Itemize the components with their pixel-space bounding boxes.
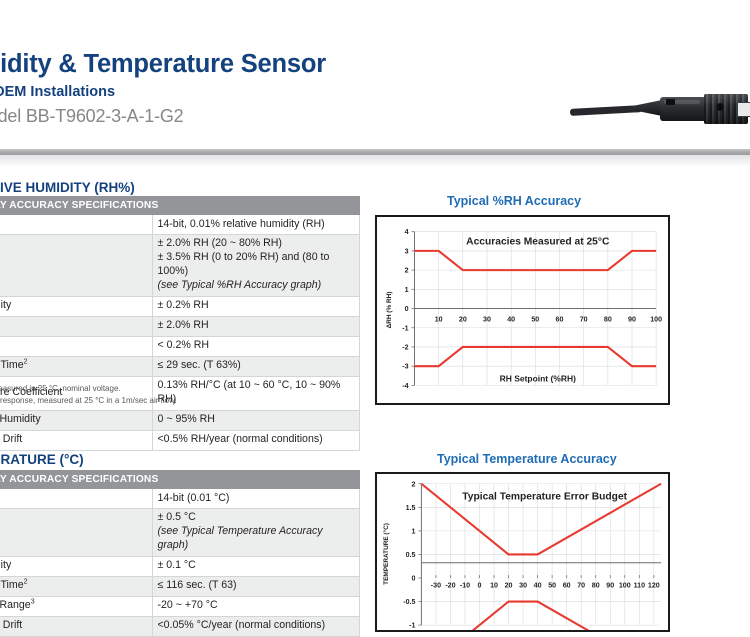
temp-y-tick-label: 2 bbox=[412, 481, 416, 488]
rh-x-tick-label: 80 bbox=[604, 316, 612, 323]
page-title: Humidity & Temperature Sensor bbox=[0, 50, 326, 79]
accuracy-line-2: ± 3.5% RH (0 to 20% RH) and (80 to 100%) bbox=[158, 251, 355, 279]
table-row: Accuracy1 ± 2.0% RH (20 ~ 80% RH) ± 3.5%… bbox=[0, 234, 360, 296]
row-label-operating-humidity: Operating Humidity bbox=[0, 410, 152, 430]
rh-y-tick-label: 4 bbox=[405, 229, 409, 236]
table-row: Accuracy1 ± 0.5 °C (see Typical Temperat… bbox=[0, 508, 360, 556]
row-label-resolution: Resolution bbox=[0, 489, 152, 509]
chart-title-temperature-accuracy: Typical Temperature Accuracy bbox=[437, 452, 617, 466]
probe-end-label bbox=[737, 102, 750, 117]
rh-y-tick-label: 3 bbox=[405, 248, 409, 255]
probe-cone bbox=[632, 100, 662, 116]
row-value-temperature-coefficient: 0.13% RH/°C (at 10 ~ 60 °C, 10 ~ 90% RH) bbox=[152, 376, 360, 410]
row-label-response-time-text: Response Time bbox=[0, 359, 24, 371]
rh-x-tick-label: 50 bbox=[531, 316, 539, 323]
table-row: Resolution 14-bit (0.01 °C) bbox=[0, 489, 360, 509]
page-subtitle: for OEM Installations bbox=[0, 84, 115, 100]
temp-y-tick-label: -0.5 bbox=[403, 599, 415, 606]
table-row: Hysteresis ± 2.0% RH bbox=[0, 316, 360, 336]
probe-cable bbox=[570, 105, 642, 116]
accuracy-graph-reference: (see Typical Temperature Accuracy graph) bbox=[158, 525, 355, 553]
row-value-repeatability: ± 0.1 °C bbox=[152, 556, 360, 576]
temp-x-tick-label: -10 bbox=[460, 583, 470, 590]
temp-x-tick-label: 30 bbox=[519, 583, 527, 590]
row-value-accuracy: ± 0.5 °C (see Typical Temperature Accura… bbox=[152, 508, 360, 556]
page-header: Humidity & Temperature Sensor for OEM In… bbox=[0, 0, 750, 148]
temperature-spec-table: ASSEMBLY ACCURACY SPECIFICATIONS Resolut… bbox=[0, 470, 360, 637]
footnote-marker: 2 bbox=[24, 359, 28, 366]
rh-y-tick-label: -2 bbox=[402, 345, 408, 352]
row-label-response-time: Response Time2 bbox=[0, 576, 152, 596]
rh-y-tick-label: 1 bbox=[405, 287, 409, 294]
accuracy-line-1: ± 0.5 °C bbox=[158, 511, 355, 525]
row-value-operating-range: -20 ~ +70 °C bbox=[152, 596, 360, 616]
row-value-repeatability: ± 0.2% RH bbox=[152, 296, 360, 316]
table-row: Long Term Drift <0.05% °C/year (normal c… bbox=[0, 616, 360, 636]
section-title-relative-humidity: RELATIVE HUMIDITY (RH%) bbox=[0, 180, 135, 195]
temp-y-tick-label: 1 bbox=[412, 528, 416, 535]
rh-inner-title: Accuracies Measured at 25°C bbox=[466, 236, 610, 247]
temp-y-tick-label: 0 bbox=[412, 576, 416, 583]
table-row: Long Term Drift <0.5% RH/year (normal co… bbox=[0, 430, 360, 450]
rh-x-tick-label: 100 bbox=[650, 316, 662, 323]
accuracy-graph-reference: (see Typical %RH Accuracy graph) bbox=[158, 279, 355, 293]
row-value-resolution: 14-bit (0.01 °C) bbox=[152, 489, 360, 509]
temp-x-tick-label: 70 bbox=[577, 583, 585, 590]
row-label-long-term-drift: Long Term Drift bbox=[0, 430, 152, 450]
relative-humidity-spec-table: ASSEMBLY ACCURACY SPECIFICATIONS Resolut… bbox=[0, 196, 360, 451]
row-value-long-term-drift: <0.5% RH/year (normal conditions) bbox=[152, 430, 360, 450]
accuracy-line-1: ± 2.0% RH (20 ~ 80% RH) bbox=[158, 237, 355, 251]
temp-y-tick-label: 0.5 bbox=[406, 552, 416, 559]
temp-x-tick-label: 20 bbox=[505, 583, 513, 590]
table-row: Linearity < 0.2% RH bbox=[0, 336, 360, 356]
table-row: Repeatability ± 0.1 °C bbox=[0, 556, 360, 576]
table-row: Response Time2 ≤ 29 sec. (T 63%) bbox=[0, 356, 360, 376]
section-title-temperature: TEMPERATURE (°C) bbox=[0, 452, 84, 467]
rh-x-tick-label: 30 bbox=[483, 316, 491, 323]
row-value-operating-humidity: 0 ~ 95% RH bbox=[152, 410, 360, 430]
row-label-response-time: Response Time2 bbox=[0, 356, 152, 376]
table-header-label: ASSEMBLY ACCURACY SPECIFICATIONS bbox=[0, 471, 360, 489]
probe-notch bbox=[666, 99, 675, 105]
rh-x-tick-label: 10 bbox=[435, 316, 443, 323]
row-value-resolution: 14-bit, 0.01% relative humidity (RH) bbox=[152, 215, 360, 235]
table-header-row: ASSEMBLY ACCURACY SPECIFICATIONS bbox=[0, 471, 360, 489]
row-label-response-time-text: Response Time bbox=[0, 579, 24, 591]
temp-y-tick-label: -1 bbox=[409, 623, 415, 630]
table-row: Resolution 14-bit, 0.01% relative humidi… bbox=[0, 215, 360, 235]
rh-y-axis-title: ΔRH (% RH) bbox=[386, 292, 393, 329]
table-row: Repeatability ± 0.2% RH bbox=[0, 296, 360, 316]
temperature-accuracy-plot: 21.510.50-0.5-1 -30-20-10010203040506070… bbox=[377, 474, 668, 630]
footnote-marker: 3 bbox=[31, 599, 35, 606]
table-row: Operating Humidity 0 ~ 95% RH bbox=[0, 410, 360, 430]
temp-x-tick-label: 110 bbox=[634, 583, 646, 590]
rh-accuracy-plot: 43210-1-2-3-4 102030405060708090100 Accu… bbox=[377, 217, 668, 403]
rh-y-tick-label: -4 bbox=[402, 383, 408, 390]
row-label-accuracy: Accuracy1 bbox=[0, 234, 152, 296]
temp-x-tick-label: 50 bbox=[548, 583, 556, 590]
header-divider-shadow bbox=[0, 155, 750, 167]
row-label-long-term-drift: Long Term Drift bbox=[0, 616, 152, 636]
rh-x-tick-label: 60 bbox=[556, 316, 564, 323]
temp-x-tick-label: 100 bbox=[619, 583, 631, 590]
row-label-accuracy: Accuracy1 bbox=[0, 508, 152, 556]
temp-x-tick-label: 80 bbox=[592, 583, 600, 590]
table-header-row: ASSEMBLY ACCURACY SPECIFICATIONS bbox=[0, 197, 360, 215]
row-value-response-time: ≤ 29 sec. (T 63%) bbox=[152, 356, 360, 376]
table-row: Operating Range3 -20 ~ +70 °C bbox=[0, 596, 360, 616]
rh-x-tick-labels: 102030405060708090100 bbox=[435, 316, 662, 323]
temp-x-tick-label: 120 bbox=[648, 583, 660, 590]
row-value-accuracy: ± 2.0% RH (20 ~ 80% RH) ± 3.5% RH (0 to … bbox=[152, 234, 360, 296]
model-number: Model BB-T9602-3-A-1-G2 bbox=[0, 106, 184, 127]
chart-temperature-accuracy: 21.510.50-0.5-1 -30-20-10010203040506070… bbox=[375, 472, 670, 632]
relative-humidity-footnotes: 1 Accuracies measured in 25 °C, nominal … bbox=[0, 383, 177, 407]
rh-y-tick-label: 0 bbox=[405, 306, 409, 313]
row-value-response-time: ≤ 116 sec. (T 63) bbox=[152, 576, 360, 596]
row-label-hysteresis: Hysteresis bbox=[0, 316, 152, 336]
row-label-repeatability: Repeatability bbox=[0, 556, 152, 576]
temp-x-tick-label: 40 bbox=[534, 583, 542, 590]
footnote-1: 1 Accuracies measured in 25 °C, nominal … bbox=[0, 383, 177, 395]
temp-x-tick-label: 0 bbox=[478, 583, 482, 590]
row-value-long-term-drift: <0.05% °C/year (normal conditions) bbox=[152, 616, 360, 636]
row-label-operating-range-text: Operating Range bbox=[0, 599, 31, 611]
row-label-operating-range: Operating Range3 bbox=[0, 596, 152, 616]
row-value-hysteresis: ± 2.0% RH bbox=[152, 316, 360, 336]
temp-x-tick-label: 10 bbox=[490, 583, 498, 590]
temp-lower-budget-line bbox=[421, 602, 661, 630]
temp-x-tick-label: 60 bbox=[563, 583, 571, 590]
rh-x-tick-label: 20 bbox=[459, 316, 467, 323]
table-header-label: ASSEMBLY ACCURACY SPECIFICATIONS bbox=[0, 197, 360, 215]
rh-x-tick-label: 40 bbox=[507, 316, 515, 323]
temp-inner-title: Typical Temperature Error Budget bbox=[462, 491, 627, 502]
probe-vent-hole bbox=[717, 103, 723, 111]
rh-x-tick-label: 90 bbox=[628, 316, 636, 323]
temp-y-axis-title: TEMPERATURE (°C) bbox=[382, 523, 390, 585]
temp-x-tick-label: 90 bbox=[606, 583, 614, 590]
chart-rh-accuracy: 43210-1-2-3-4 102030405060708090100 Accu… bbox=[375, 215, 670, 405]
rh-y-tick-label: -1 bbox=[402, 325, 408, 332]
footnote-marker: 2 bbox=[24, 579, 28, 586]
rh-y-tick-labels: 43210-1-2-3-4 bbox=[402, 229, 408, 390]
row-label-linearity: Linearity bbox=[0, 336, 152, 356]
rh-y-tick-label: 2 bbox=[405, 268, 409, 275]
chart-title-rh-accuracy: Typical %RH Accuracy bbox=[447, 194, 581, 208]
row-label-resolution: Resolution bbox=[0, 215, 152, 235]
table-row: Response Time2 ≤ 116 sec. (T 63) bbox=[0, 576, 360, 596]
temp-x-tick-label: -30 bbox=[431, 583, 441, 590]
rh-x-axis-title: RH Setpoint (%RH) bbox=[500, 373, 576, 383]
footnote-2: 2 63% RH step response, measured at 25 °… bbox=[0, 395, 177, 407]
temp-x-tick-labels: -30-20-100102030405060708090100110120 bbox=[431, 583, 660, 590]
rh-y-tick-label: -3 bbox=[402, 364, 408, 371]
row-label-repeatability: Repeatability bbox=[0, 296, 152, 316]
row-value-linearity: < 0.2% RH bbox=[152, 336, 360, 356]
temp-y-tick-labels: 21.510.50-0.5-1 bbox=[403, 481, 415, 629]
sensor-probe-photo bbox=[570, 80, 750, 138]
temp-y-tick-label: 1.5 bbox=[406, 505, 416, 512]
rh-x-tick-label: 70 bbox=[580, 316, 588, 323]
temp-x-tick-label: -20 bbox=[445, 583, 455, 590]
